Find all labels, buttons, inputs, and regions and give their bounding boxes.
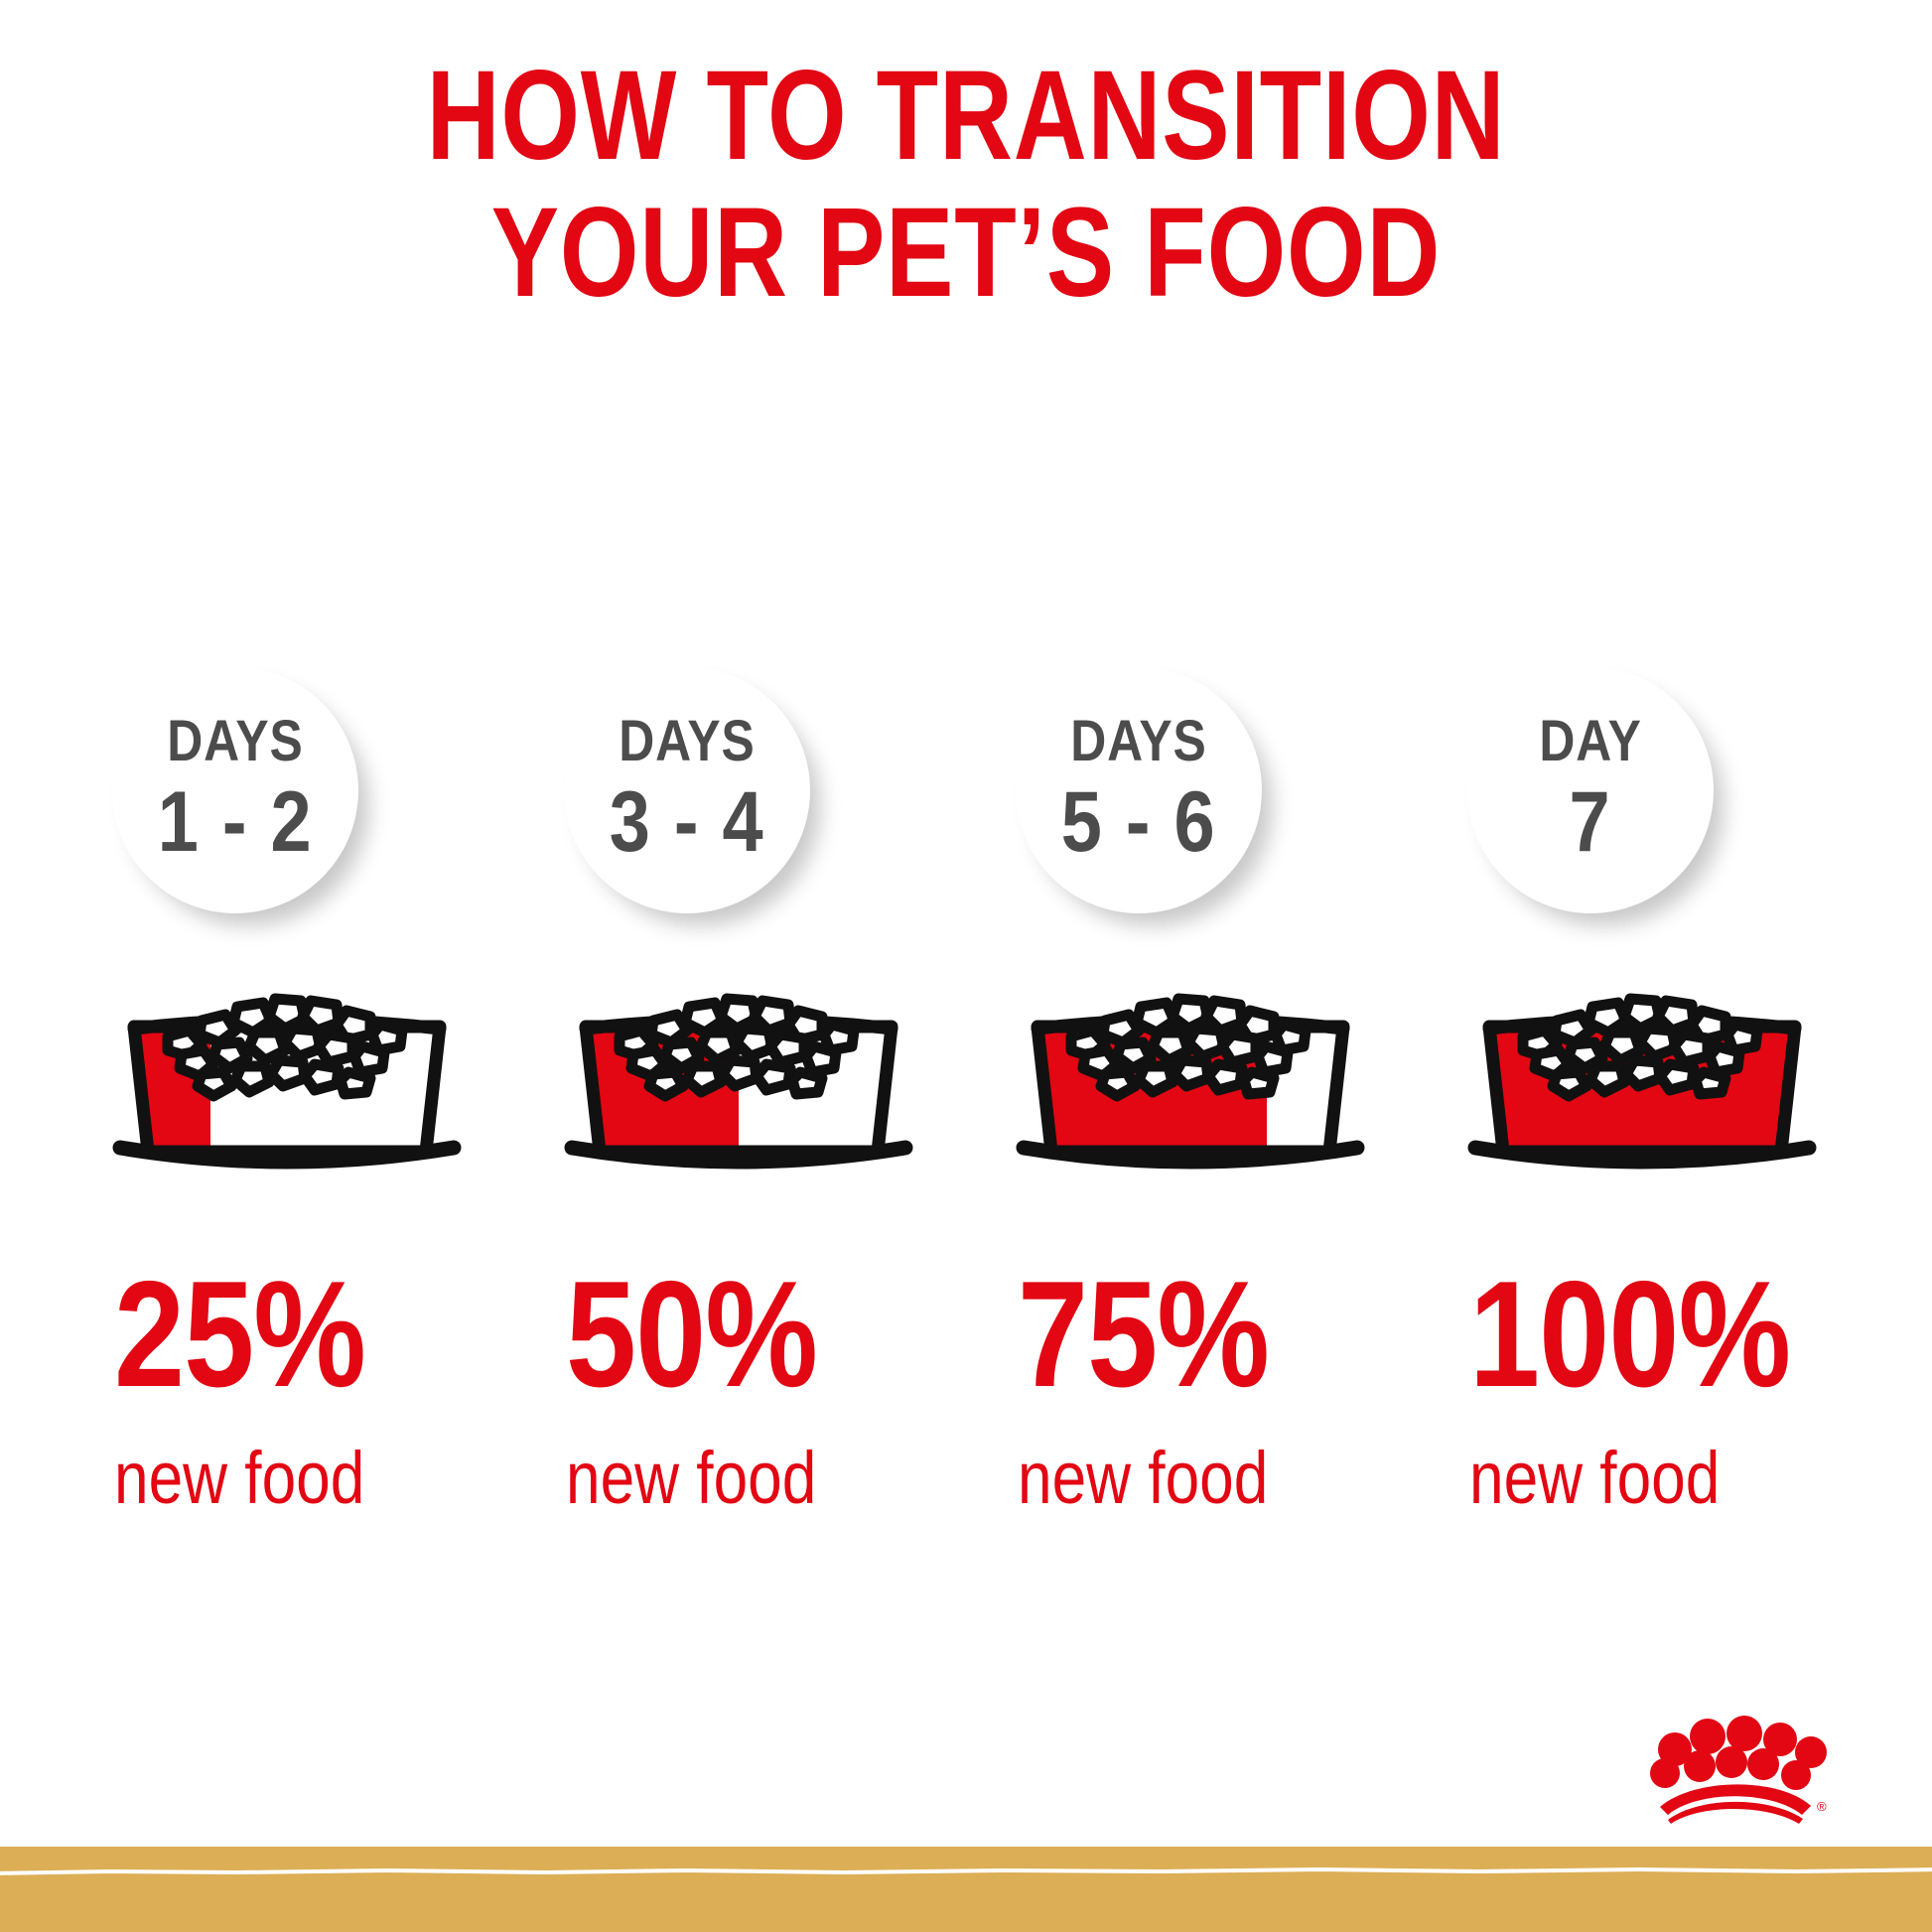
step-column-3: DAYS 5 - 6 [988, 0, 1454, 1932]
percent-label-3: new food [1018, 1442, 1385, 1515]
bowl-100-percent [1453, 971, 1831, 1170]
day-number-4: 7 [1570, 776, 1612, 868]
day-word-3: DAYS [1070, 713, 1206, 770]
step-column-1: DAYS 1 - 2 [84, 0, 551, 1932]
day-word-2: DAYS [619, 713, 755, 770]
bowl-illustration-1 [98, 971, 476, 1170]
day-badge-3: DAYS 5 - 6 [1016, 667, 1262, 913]
step-column-4: DAY 7 [1440, 0, 1906, 1932]
crown-icon: ® [1640, 1712, 1829, 1831]
percent-value-4: 100% [1469, 1259, 1837, 1410]
trademark-symbol: ® [1817, 1799, 1827, 1814]
percent-value-2: 50% [566, 1259, 933, 1410]
gold-band-streak [0, 1867, 1932, 1876]
step-column-2: DAYS 3 - 4 [536, 0, 1003, 1932]
percent-label-4: new food [1469, 1442, 1837, 1515]
day-number-3: 5 - 6 [1061, 776, 1217, 868]
bottom-gold-band [0, 1847, 1932, 1932]
percent-block-1: 25% new food [114, 1259, 551, 1515]
day-word-1: DAYS [167, 713, 303, 770]
day-badge-4: DAY 7 [1467, 667, 1714, 913]
percent-label-2: new food [566, 1442, 933, 1515]
percent-block-4: 100% new food [1469, 1259, 1906, 1515]
royal-canin-crown-logo: ® [1640, 1712, 1829, 1831]
day-badge-1: DAYS 1 - 2 [112, 667, 358, 913]
percent-value-1: 25% [114, 1259, 482, 1410]
percent-value-3: 75% [1018, 1259, 1385, 1410]
bowl-illustration-3 [1002, 971, 1379, 1170]
percent-block-3: 75% new food [1018, 1259, 1454, 1515]
bowl-25-percent [98, 971, 476, 1170]
bowl-illustration-2 [550, 971, 927, 1170]
infographic-page: HOW TO TRANSITION YOUR PET’S FOOD DAYS 1… [0, 0, 1932, 1932]
percent-block-2: 50% new food [566, 1259, 1003, 1515]
bowl-75-percent [1002, 971, 1379, 1170]
day-number-1: 1 - 2 [158, 776, 314, 868]
percent-label-1: new food [114, 1442, 482, 1515]
day-word-4: DAY [1539, 713, 1641, 770]
day-number-2: 3 - 4 [610, 776, 765, 868]
bowl-illustration-4 [1453, 971, 1831, 1170]
bowl-50-percent [550, 971, 927, 1170]
day-badge-2: DAYS 3 - 4 [564, 667, 810, 913]
